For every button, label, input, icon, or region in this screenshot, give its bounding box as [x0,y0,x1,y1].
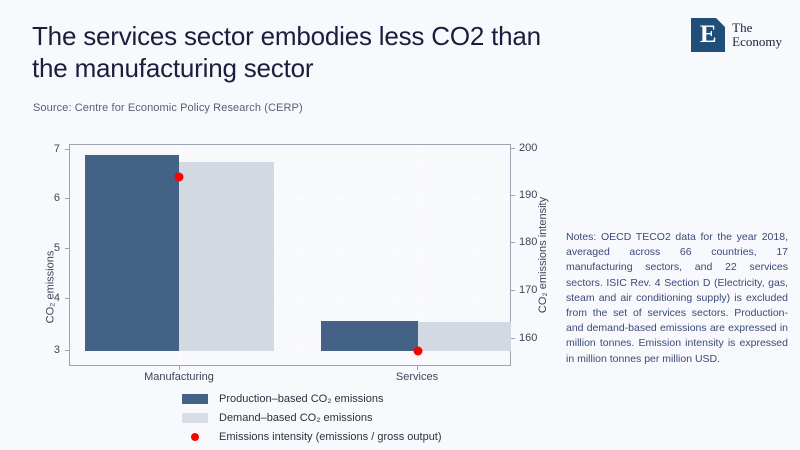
bar-manufacturing-demand [179,162,274,351]
logo-wordmark-line1: The [732,21,782,35]
x-tick-label-services: Services [396,371,438,383]
y-tickmark-right-190 [511,195,515,196]
logo-wordmark-line2: Economy [732,35,782,49]
legend-swatch-demand-icon [182,413,208,423]
gridline-h-7 [70,150,510,151]
logo-fold-corner-icon [716,18,725,27]
y-tick-label-left-3: 3 [34,344,60,356]
notes-panel: Notes: OECD TECO2 data for the year 2018… [566,230,788,367]
plot-area [69,144,511,366]
y-axis-left-label: CO₂ emissions [44,251,56,324]
y-tick-label-left-6: 6 [34,192,60,204]
x-tickmark-manufacturing [179,366,180,370]
y-tick-label-right-160: 160 [519,332,537,344]
y-tick-label-left-7: 7 [34,143,60,155]
legend-label-production: Production–based CO₂ emissions [219,393,383,405]
y-tick-label-right-190: 190 [519,189,537,201]
y-tick-label-left-4: 4 [34,292,60,304]
x-tick-label-manufacturing: Manufacturing [144,371,214,383]
bar-manufacturing-production [85,155,179,351]
logo-letter: E [700,22,717,47]
y-tickmark-right-160 [511,338,515,339]
bar-services-production [321,321,418,351]
x-tickmark-services [417,366,418,370]
logo-mark-icon: E [691,18,725,52]
legend-item-demand: Demand–based CO₂ emissions [182,409,442,426]
y-tick-label-left-5: 5 [34,242,60,254]
legend-item-intensity: Emissions intensity (emissions / gross o… [182,428,442,445]
y-tick-label-right-200: 200 [519,142,537,154]
legend-label-demand: Demand–based CO₂ emissions [219,412,372,424]
y-tickmark-right-200 [511,148,515,149]
intensity-dot-services [414,347,423,356]
bar-services-demand [418,322,511,351]
y-tickmark-right-180 [511,242,515,243]
legend-swatch-production-icon [182,394,208,404]
legend-dot-intensity-icon [182,432,208,442]
legend-item-production: Production–based CO₂ emissions [182,390,442,407]
source-caption: Source: Centre for Economic Policy Resea… [33,102,303,114]
chart-legend: Production–based CO₂ emissions Demand–ba… [182,390,442,447]
intensity-dot-manufacturing [175,173,184,182]
y-tickmark-right-170 [511,290,515,291]
logo-wordmark: The Economy [732,21,782,49]
chart-container: CO₂ emissions 7 6 5 4 3 200 190 180 170 … [16,132,556,442]
y-tick-label-right-170: 170 [519,284,537,296]
brand-logo: E The Economy [691,18,782,52]
slide-canvas: The services sector embodies less CO2 th… [0,0,800,450]
y-axis-right-label: CO₂ emissions intensity [537,197,549,313]
y-tick-label-right-180: 180 [519,236,537,248]
page-title: The services sector embodies less CO2 th… [32,20,552,84]
legend-label-intensity: Emissions intensity (emissions / gross o… [219,431,442,443]
